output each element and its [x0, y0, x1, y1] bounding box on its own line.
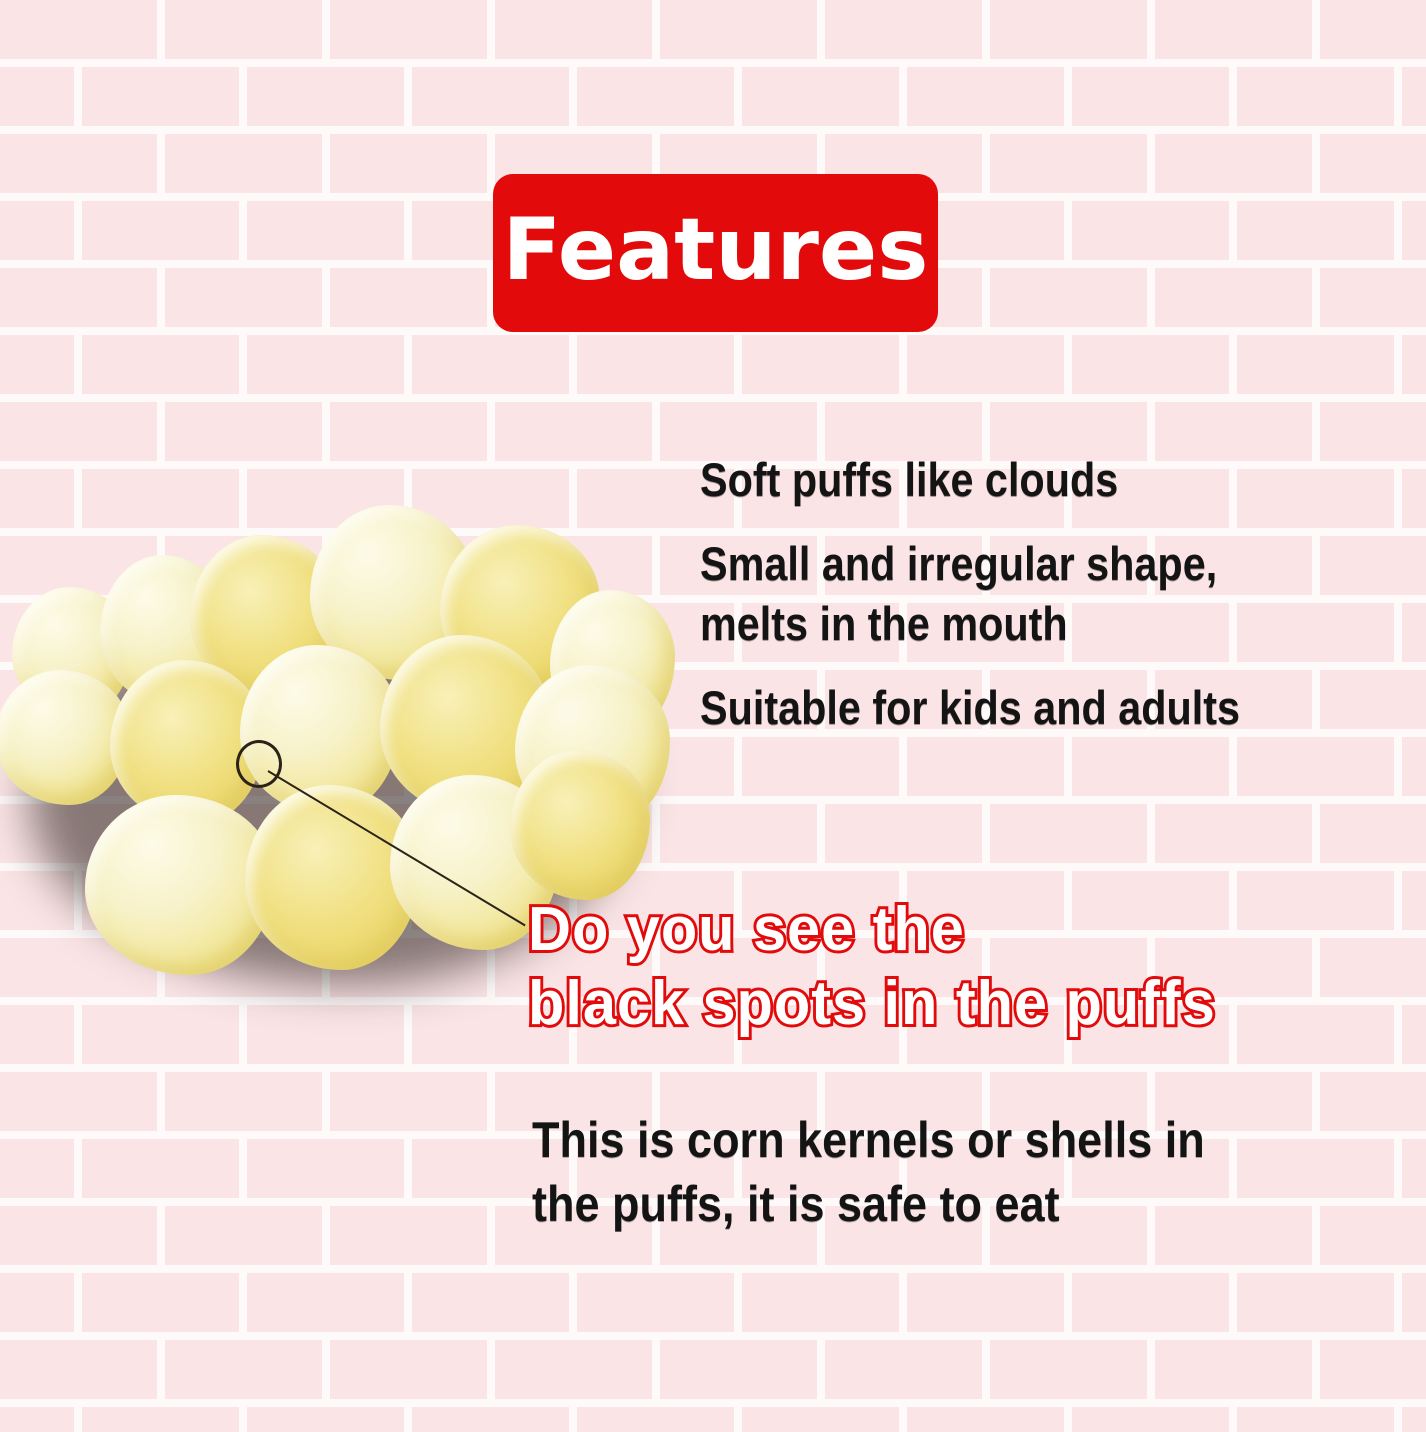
feature-item-2: Small and irregular shape, melts in the … [700, 534, 1316, 654]
features-banner: Features [493, 174, 938, 332]
callout-line-2: black spots in the puffs [528, 967, 1382, 1041]
features-banner-title: Features [503, 207, 929, 299]
explanatory-note: This is corn kernels or shells in the pu… [532, 1108, 1288, 1236]
feature-list: Soft puffs like clouds Small and irregul… [700, 450, 1400, 762]
feature-item-3: Suitable for kids and adults [700, 678, 1316, 738]
puff-piece [510, 750, 650, 900]
callout-block: Do you see the black spots in the puffs [528, 893, 1418, 1041]
circle-annotation-icon [236, 740, 282, 788]
feature-item-1: Soft puffs like clouds [700, 450, 1316, 510]
callout-line-1: Do you see the [528, 893, 1382, 967]
product-feature-poster: Features Soft puffs like clouds Small an… [0, 0, 1426, 1432]
